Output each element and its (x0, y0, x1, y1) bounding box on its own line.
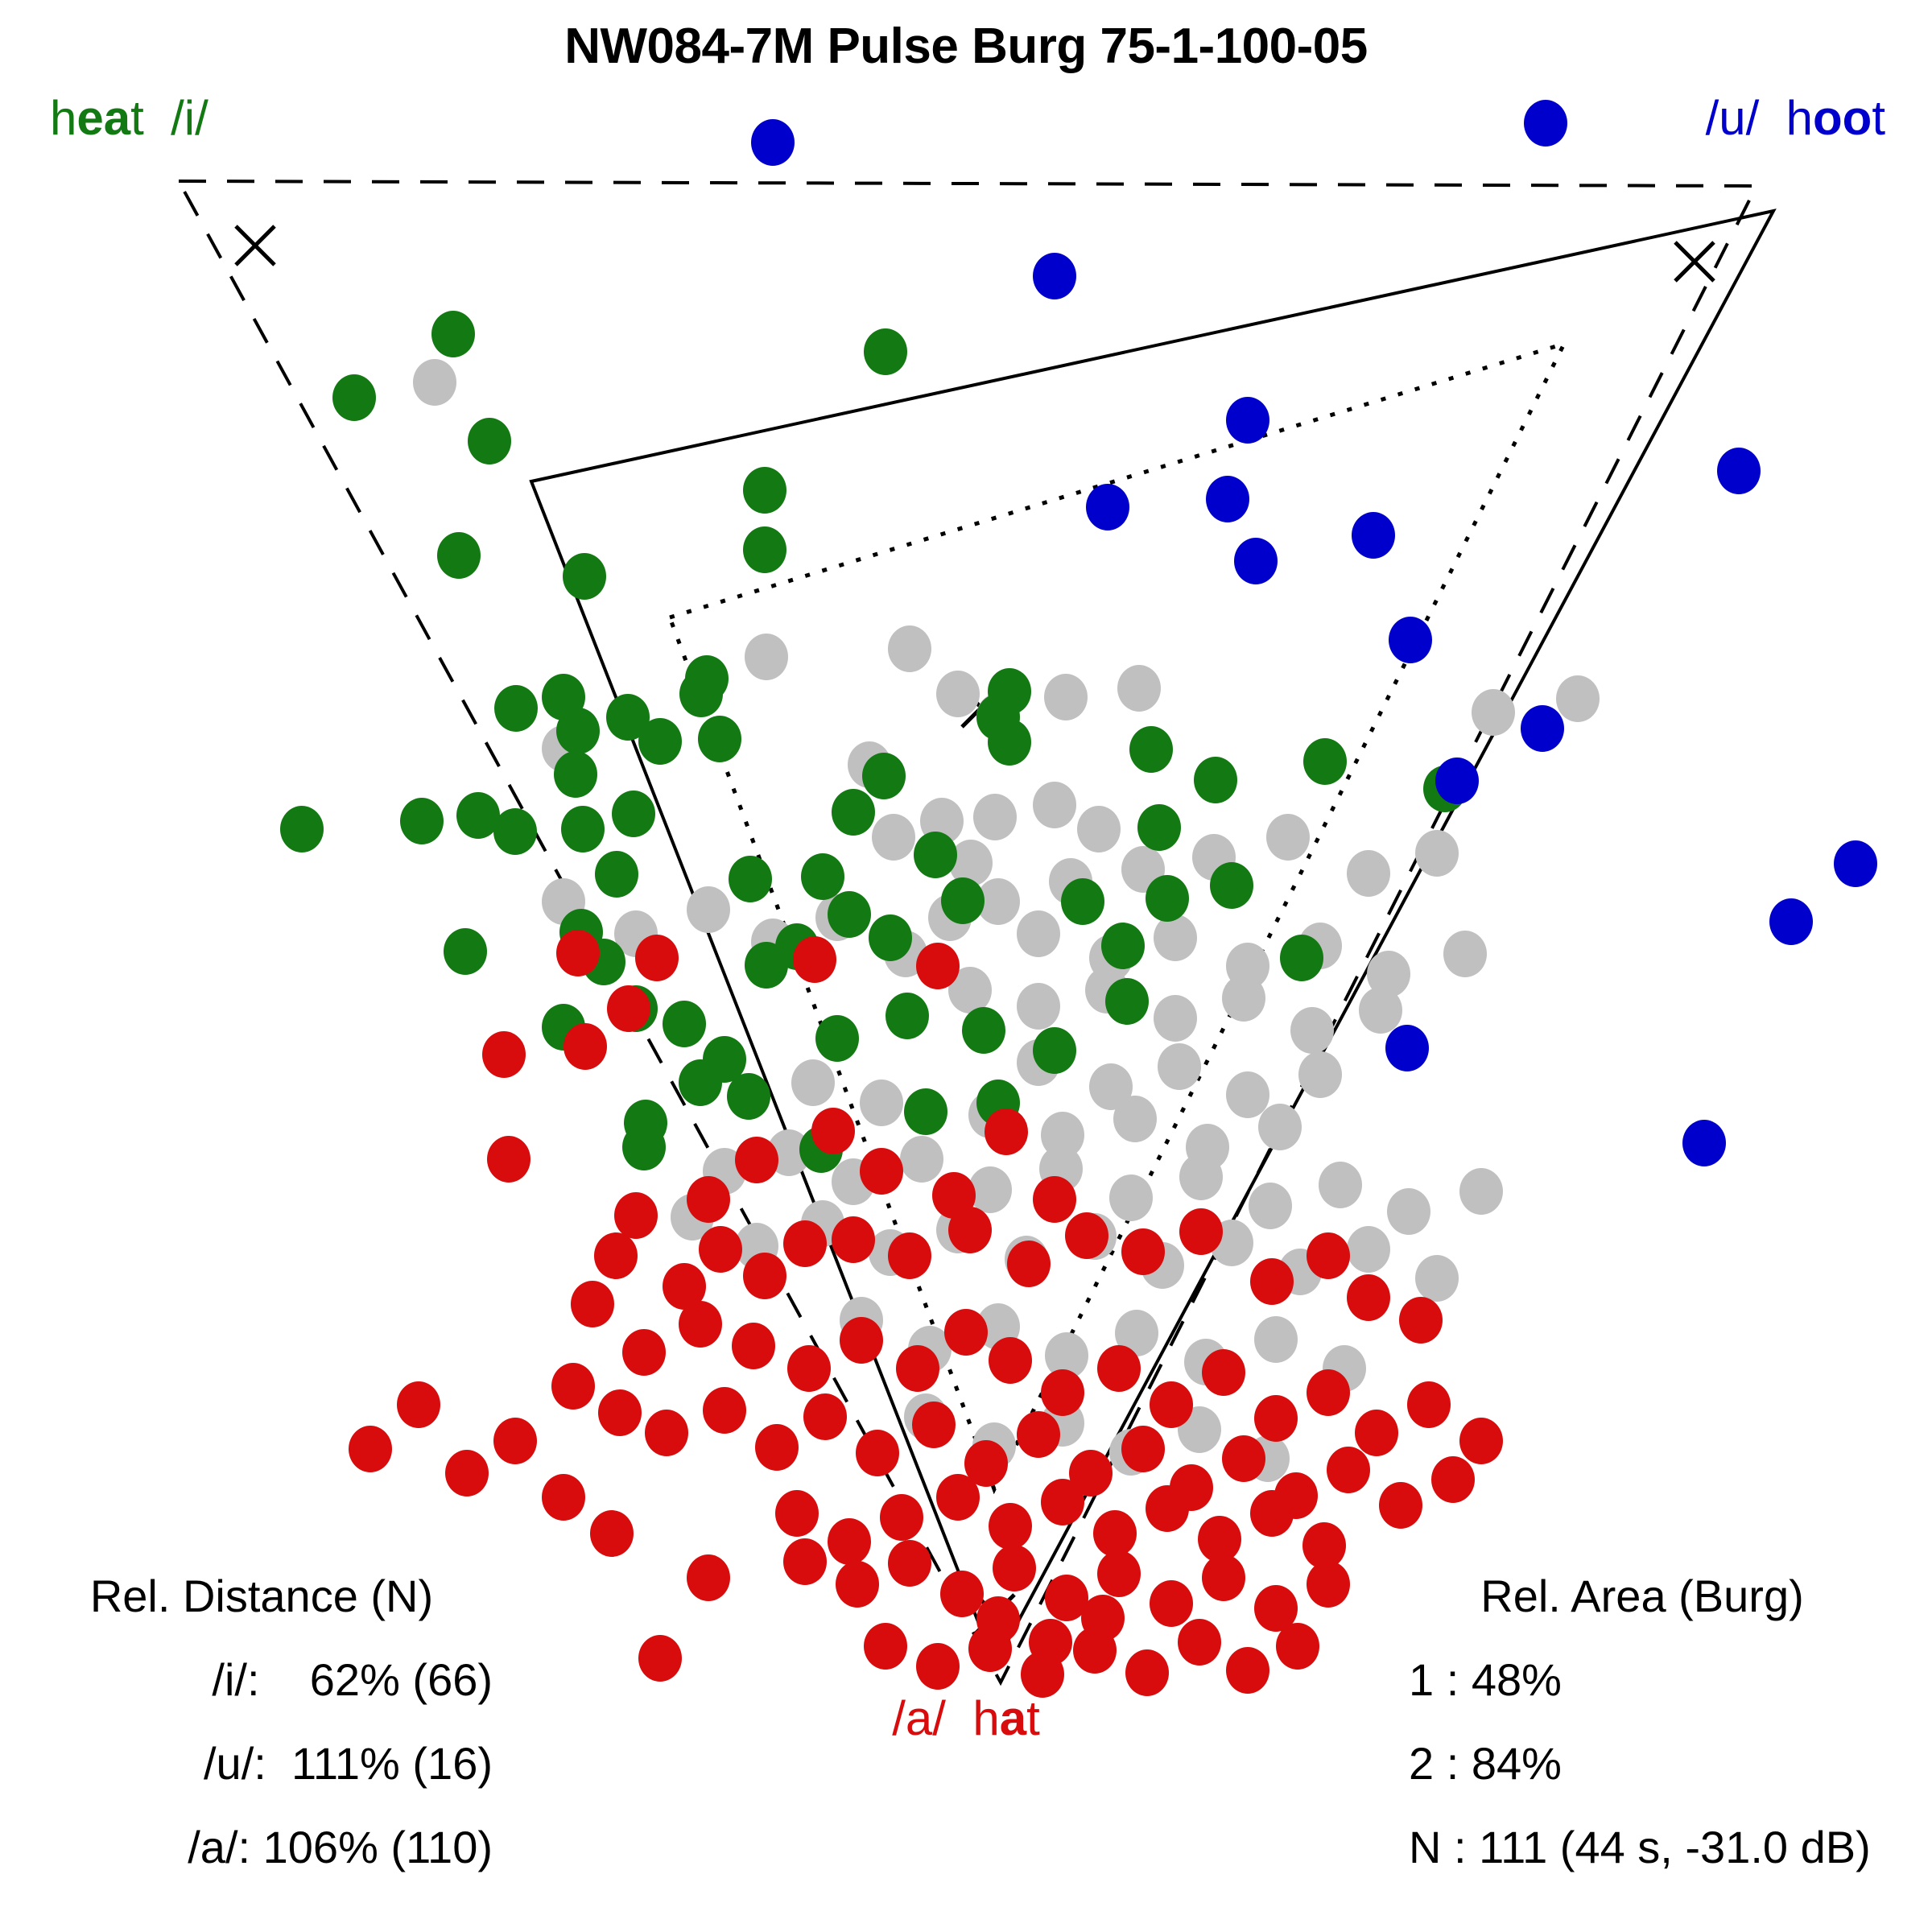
data-point (1385, 1025, 1429, 1071)
data-point (1769, 898, 1813, 945)
data-point (1202, 1349, 1245, 1396)
data-point (885, 993, 929, 1039)
data-point (594, 1232, 638, 1279)
data-point (832, 789, 875, 836)
data-point (912, 1402, 956, 1448)
data-point (493, 1418, 537, 1464)
data-point (445, 1450, 489, 1496)
data-point (1226, 1647, 1269, 1694)
data-point (1387, 1188, 1430, 1235)
data-point (542, 1474, 585, 1521)
data-point (869, 914, 912, 961)
data-point (856, 1430, 899, 1476)
legend-rel-area: Rel. Area (Burg) 1 : 48% 2 : 84% N : 111… (1401, 1574, 1932, 1909)
data-point (900, 1136, 943, 1183)
data-point (1105, 978, 1149, 1025)
vowel-space-plot: NW084-7M Pulse Burg 75-1-100-05 heat /i/… (0, 0, 1932, 1932)
data-point (862, 753, 906, 799)
data-point (896, 1345, 939, 1392)
data-point (1254, 1395, 1298, 1442)
data-point (743, 1253, 786, 1299)
data-point (1290, 1007, 1334, 1054)
data-point (493, 808, 537, 855)
data-point (468, 418, 511, 464)
data-point (456, 792, 500, 839)
legend-row-u: /u/: 111% (16) (24, 1741, 507, 1786)
data-point (638, 1635, 682, 1682)
data-point (732, 1323, 775, 1369)
data-point (783, 1538, 827, 1585)
data-point (1319, 1162, 1362, 1208)
data-point (1137, 804, 1181, 851)
data-point (1017, 983, 1060, 1030)
data-point (482, 1031, 526, 1078)
data-point (803, 1393, 847, 1440)
data-point (679, 1301, 722, 1348)
data-point (836, 1561, 879, 1608)
data-point (1129, 726, 1173, 773)
data-point (1250, 1490, 1294, 1537)
data-point (751, 119, 795, 166)
data-point (614, 1192, 658, 1239)
corner-label-i: heat /i/ (50, 90, 208, 146)
data-point (940, 1571, 984, 1617)
data-point (914, 832, 957, 878)
data-point (962, 1007, 1005, 1054)
data-point (551, 1363, 595, 1410)
data-point (699, 1226, 742, 1273)
data-point (645, 1410, 688, 1456)
data-point (1682, 1120, 1726, 1166)
data-point (1459, 1168, 1503, 1215)
data-point (1154, 914, 1197, 961)
data-point (1061, 878, 1104, 925)
data-point (679, 1059, 722, 1106)
data-point (280, 806, 324, 852)
data-point (864, 328, 907, 375)
data-point (787, 1345, 831, 1392)
data-point (1307, 1232, 1350, 1279)
data-point (840, 1317, 883, 1364)
data-point (936, 671, 980, 717)
data-point (888, 1232, 931, 1279)
data-point (437, 532, 481, 579)
data-point (1109, 1174, 1153, 1221)
data-point (1097, 1550, 1141, 1597)
data-point (1017, 910, 1060, 957)
data-point (1210, 862, 1253, 909)
data-point (413, 359, 456, 406)
data-point (1355, 1410, 1398, 1456)
data-point (1524, 100, 1567, 147)
data-point (1379, 1482, 1422, 1529)
data-point (400, 798, 444, 844)
legend-rel-area-title: Rel. Area (Burg) (1401, 1574, 1932, 1619)
data-point (1415, 830, 1459, 877)
data-point (1086, 484, 1129, 530)
data-point (1041, 1369, 1084, 1416)
data-point (1250, 1258, 1294, 1305)
data-point (1222, 1435, 1265, 1482)
data-point (1179, 1208, 1223, 1255)
data-point (1017, 1411, 1060, 1458)
data-point (1121, 1426, 1165, 1472)
x-marker-icon (1675, 242, 1714, 281)
data-point (880, 1494, 923, 1541)
data-point (916, 943, 960, 989)
data-point (1113, 1096, 1157, 1142)
data-point (864, 1623, 907, 1670)
data-point (743, 526, 786, 573)
data-point (793, 936, 836, 983)
data-point (1415, 1255, 1459, 1302)
data-point (1717, 448, 1761, 494)
data-point (622, 1329, 666, 1376)
data-point (1158, 1043, 1201, 1090)
data-point (985, 1108, 1028, 1155)
data-point (888, 625, 931, 672)
data-point (1065, 1212, 1108, 1259)
data-point (444, 928, 487, 975)
data-point (1307, 1561, 1350, 1608)
data-point (973, 794, 1017, 840)
data-point (1521, 705, 1564, 752)
data-point (1435, 758, 1479, 804)
data-point (1399, 1297, 1443, 1344)
data-point (563, 1023, 607, 1070)
data-point (1041, 1479, 1084, 1525)
data-point (1459, 1418, 1503, 1464)
data-point (904, 1088, 947, 1135)
data-point (828, 891, 871, 938)
data-point (993, 1545, 1036, 1591)
data-point (612, 791, 655, 837)
data-point (687, 1554, 730, 1601)
data-point (590, 1510, 634, 1557)
data-point (1044, 674, 1088, 720)
data-point (1303, 738, 1347, 785)
data-point (635, 935, 679, 981)
series--i-heat (280, 311, 1467, 1173)
data-point (968, 1625, 1012, 1672)
data-point (698, 716, 741, 762)
data-point (1125, 1649, 1169, 1696)
data-point (431, 311, 475, 357)
data-point (487, 1136, 530, 1183)
data-point (811, 1108, 855, 1154)
data-point (1033, 253, 1076, 299)
data-point (888, 1540, 931, 1587)
data-point (1150, 1580, 1193, 1627)
legend-rel-distance-title: Rel. Distance (N) (24, 1574, 507, 1619)
data-point (791, 1059, 835, 1106)
data-point (1146, 1485, 1189, 1532)
data-point (607, 985, 650, 1032)
data-point (828, 1518, 871, 1565)
data-points-layer (280, 100, 1877, 1698)
data-point (332, 374, 376, 421)
data-point (1146, 875, 1189, 922)
data-point (815, 1015, 859, 1062)
data-point (1258, 1104, 1302, 1150)
data-point (349, 1426, 392, 1472)
data-point (1077, 806, 1121, 852)
data-point (561, 806, 605, 852)
data-point (1347, 1274, 1390, 1321)
data-point (1179, 1154, 1223, 1200)
data-point (1222, 975, 1265, 1022)
data-point (735, 1137, 778, 1183)
data-point (783, 1220, 827, 1267)
data-point (1276, 1623, 1319, 1670)
data-point (1443, 931, 1487, 977)
data-point (1254, 1316, 1298, 1363)
corner-label-a-text: /a/ hat (892, 1691, 1039, 1745)
legend-row-area-1: 1 : 48% (1401, 1657, 1932, 1703)
data-point (1154, 995, 1197, 1042)
data-point (832, 1216, 875, 1263)
corner-label-i-text: heat /i/ (50, 91, 208, 145)
legend-row-i: /i/: 62% (66) (24, 1657, 507, 1703)
data-point (1097, 1345, 1141, 1392)
data-point (1150, 1381, 1193, 1428)
data-point (494, 685, 538, 732)
data-point (1007, 1241, 1051, 1287)
data-point (1206, 476, 1249, 522)
series--a-hat (349, 930, 1503, 1698)
corner-label-u: /u/ hoot (1706, 90, 1885, 146)
data-point (1327, 1447, 1370, 1493)
data-point (727, 1073, 770, 1120)
data-point (1352, 512, 1395, 559)
data-point (941, 877, 985, 924)
data-point (916, 1643, 960, 1690)
data-point (948, 1207, 992, 1253)
data-point (556, 930, 600, 976)
data-point (663, 1001, 706, 1047)
legend-row-n: N : 111 (44 s, -31.0 dB) (1401, 1825, 1932, 1870)
data-point (872, 814, 915, 861)
data-point (1121, 1228, 1165, 1275)
data-point (1307, 1369, 1350, 1416)
data-point (729, 856, 772, 902)
data-point (1347, 850, 1390, 897)
legend-row-a: /a/: 106% (110) (24, 1825, 507, 1870)
data-point (1202, 1554, 1245, 1601)
data-point (595, 851, 638, 898)
data-point (1033, 1027, 1076, 1074)
data-point (571, 1281, 614, 1327)
data-point (1298, 1051, 1342, 1098)
data-point (1033, 1176, 1076, 1223)
data-point (1073, 1627, 1117, 1674)
data-point (554, 751, 597, 798)
data-point (989, 1337, 1032, 1384)
data-point (1249, 1183, 1292, 1229)
data-point (622, 1124, 666, 1170)
data-point (1266, 814, 1310, 861)
legend-rel-distance: Rel. Distance (N) /i/: 62% (66) /u/: 111… (24, 1574, 507, 1909)
data-point (1033, 782, 1076, 828)
data-point (755, 1424, 799, 1471)
data-point (638, 718, 682, 765)
data-point (775, 1490, 819, 1537)
data-point (1389, 617, 1432, 663)
legend-row-area-2: 2 : 84% (1401, 1741, 1932, 1786)
data-point (1556, 675, 1600, 722)
data-point (860, 1080, 903, 1126)
data-point (687, 886, 730, 933)
data-point (1194, 757, 1237, 803)
data-point (1431, 1456, 1475, 1503)
data-point (936, 1474, 980, 1521)
data-point (397, 1381, 440, 1428)
data-point (1178, 1619, 1221, 1666)
data-point (703, 1387, 746, 1434)
data-point (1472, 689, 1515, 736)
x-marker-icon (236, 226, 275, 265)
data-point (801, 853, 844, 900)
data-point (944, 1309, 988, 1356)
data-point (556, 708, 600, 754)
data-point (988, 668, 1031, 715)
data-point (988, 719, 1031, 766)
data-point (687, 1176, 730, 1223)
data-point (679, 671, 723, 717)
corner-label-u-text: /u/ hoot (1706, 91, 1885, 145)
data-point (1834, 840, 1877, 887)
data-point (1101, 923, 1145, 969)
data-point (563, 553, 606, 600)
data-point (1359, 987, 1402, 1034)
data-point (1234, 538, 1278, 584)
data-point (1117, 665, 1161, 712)
data-point (1280, 935, 1323, 981)
data-point (1093, 1510, 1137, 1557)
data-point (1407, 1381, 1451, 1428)
data-point (598, 1389, 642, 1436)
data-point (989, 1503, 1032, 1550)
data-point (1226, 397, 1269, 444)
data-point (745, 634, 788, 680)
data-point (1226, 1071, 1269, 1118)
data-point (743, 467, 786, 514)
data-point (1347, 1226, 1390, 1273)
data-point (860, 1148, 903, 1195)
data-point (745, 942, 788, 989)
